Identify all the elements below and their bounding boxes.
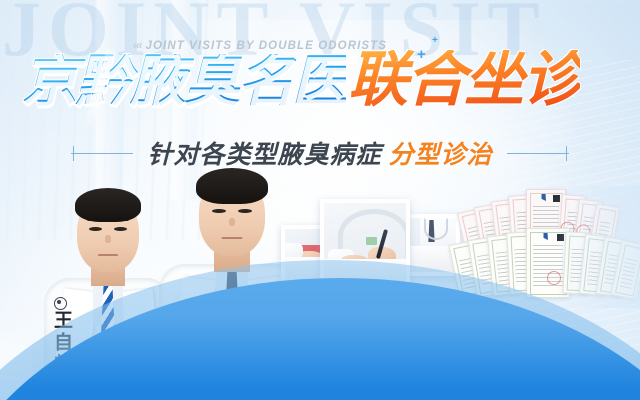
doctor-hair bbox=[75, 188, 141, 222]
subtitle-orange-text: 分型诊治 bbox=[389, 140, 493, 169]
doctor-eye bbox=[114, 227, 127, 231]
stethoscope-icon bbox=[424, 218, 448, 240]
doctor-eye bbox=[89, 227, 102, 231]
headline-blue-text: 京黔腋臭名医 bbox=[22, 54, 346, 110]
doctor-mouth bbox=[222, 237, 243, 239]
doctor-hair bbox=[196, 168, 268, 204]
badge-icon bbox=[54, 297, 67, 310]
subtitle-row: 针对各类型腋臭病症分型诊治 bbox=[0, 135, 640, 171]
doctor-eye bbox=[212, 209, 226, 213]
headline-orange-text: 联合坐诊 bbox=[348, 50, 580, 110]
doctor-nose bbox=[105, 235, 111, 243]
plus-sparkle-icon: + bbox=[417, 47, 426, 62]
subtitle-rule-left bbox=[71, 153, 133, 154]
doctor-eye bbox=[238, 209, 252, 213]
subtitle-rule-right bbox=[507, 153, 569, 154]
monitor-icon bbox=[366, 237, 377, 245]
doctor-nose bbox=[229, 218, 235, 226]
plus-sparkle-icon: + bbox=[432, 36, 438, 46]
doctor-mouth bbox=[98, 254, 118, 256]
promo-banner: JOINT VISIT ‹‹‹JOINT VISITS BY DOUBLE OD… bbox=[0, 0, 640, 400]
